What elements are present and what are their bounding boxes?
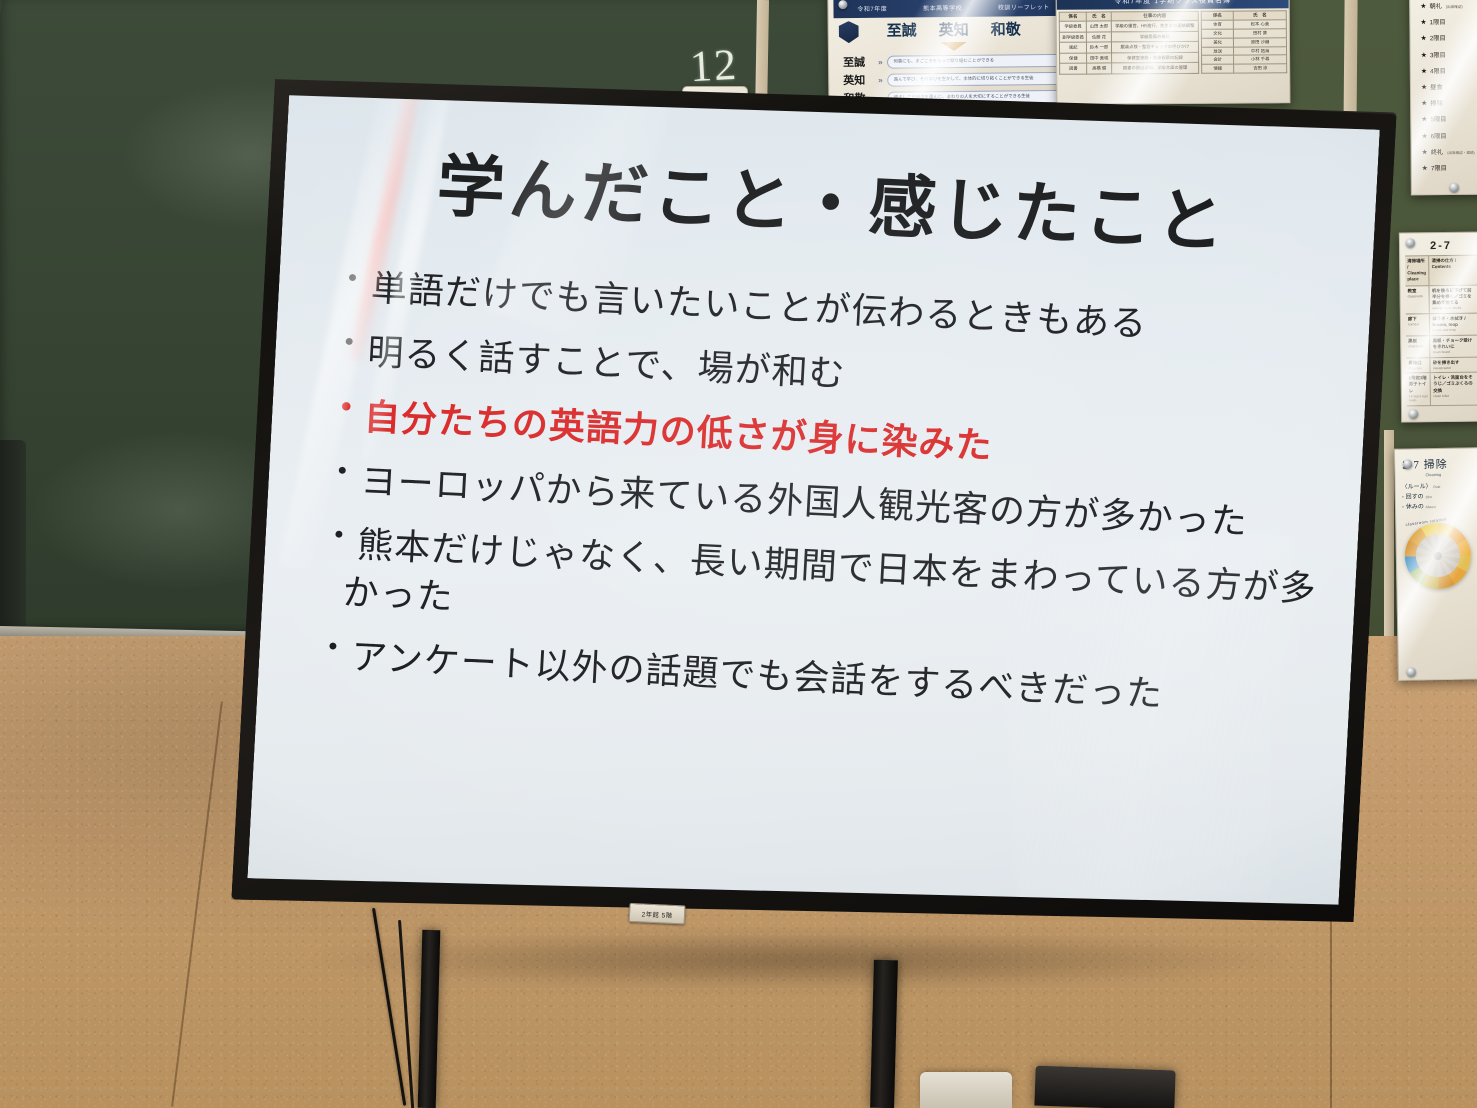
roster-th: 係名 xyxy=(1201,11,1233,20)
rule-1: 休みの xyxy=(1406,505,1424,511)
poster-daily-schedule: ★朝礼(出席確認) ★1限目 ★2限目 ★3限目 ★4限目 ★昼食 ★掃除 ★5… xyxy=(1409,0,1477,195)
motto-row-key-1: 英知 xyxy=(843,72,873,88)
poster-cleaning-rotation-wheel: 2-7 掃除 Cleaning 〈ルール〉 Rule ◦ 回すの 10m ◦ 休… xyxy=(1394,447,1477,680)
list-item: ★7限目 xyxy=(1422,163,1477,173)
slide-title: 学んだこと・感じたこと xyxy=(335,146,1331,267)
motto-row-desc-0: 何事にも、まごころをもって取り組むことができる xyxy=(887,53,1071,68)
star-icon: ★ xyxy=(1421,99,1427,107)
star-icon: ★ xyxy=(1420,35,1426,43)
rule-1-sub: Absent xyxy=(1425,505,1436,509)
tv-stand-base xyxy=(1034,1066,1175,1108)
chevron-down-icon xyxy=(941,42,967,51)
motto-header-right: 校訓リーフレット xyxy=(998,2,1050,12)
list-item: ★2限目 xyxy=(1420,33,1477,43)
star-icon: ★ xyxy=(1421,51,1427,59)
list-item: ★終礼(出席確認・連絡) xyxy=(1421,146,1477,156)
floor-object xyxy=(920,1072,1012,1108)
motto-row-key-0: 至誠 xyxy=(843,54,873,70)
motto-word-0: 至誠 xyxy=(887,19,917,40)
tv-stand-right-post xyxy=(870,960,898,1108)
star-icon: ★ xyxy=(1420,18,1426,26)
wheel-rules: 〈ルール〉 Rule ◦ 回すの 10m ◦ 休みの Absent xyxy=(1402,481,1477,513)
star-icon: ★ xyxy=(1421,67,1427,75)
star-icon: ★ xyxy=(1421,148,1427,156)
slide-bullet-list: 単語だけでも言いたいことが伝わるときもある 明るく話すことで、場が和む 自分たち… xyxy=(310,264,1324,724)
list-item: ★昼食 xyxy=(1421,82,1477,92)
duty-table: 清掃場所 / Cleaning place 清掃の仕方 / Contents 教… xyxy=(1405,255,1477,407)
table-row: 図書高橋 健図書の貸出返却、学級文庫の管理 xyxy=(1060,63,1199,75)
presentation-slide: 学んだこと・感じたこと 単語だけでも言いたいことが伝わるときもある 明るく話すこ… xyxy=(247,79,1379,928)
tv-display[interactable]: 学んだこと・感じたこと 単語だけでも言いたいことが伝わるときもある 明るく話すこ… xyxy=(231,61,1397,952)
roster-th: 氏 名 xyxy=(1233,11,1286,21)
rules-heading: 〈ルール〉 xyxy=(1402,484,1432,491)
rule-0-sub: 10m xyxy=(1425,495,1432,499)
star-icon: ★ xyxy=(1421,132,1427,140)
roster-th: 氏 名 xyxy=(1087,12,1111,21)
motto-header: 令和7年度 熊本高等学校 校訓リーフレット xyxy=(833,0,1073,18)
table-row: 昇降口shoe box 砂を掃き出すsweep sand xyxy=(1406,356,1477,373)
list-item: ★6限目 xyxy=(1421,130,1477,140)
star-icon: ★ xyxy=(1421,116,1427,124)
table-row: 1号館3階 男子トイレ1F boy's rest room トイレ・洗面台をそう… xyxy=(1407,372,1477,407)
classroom-photo: 12 月 令和7年度 熊本高等学校 校訓リーフレット 至誠 英知 和敬 至誠 »… xyxy=(0,0,1477,1108)
poster-class-roster: 令和7年度 1学期クラス役員名簿 係名 氏 名 仕事の内容 学級委員山田 太郎学… xyxy=(1056,0,1291,105)
schedule-list: ★朝礼(出席確認) ★1限目 ★2限目 ★3限目 ★4限目 ★昼食 ★掃除 ★5… xyxy=(1410,0,1477,172)
rule-0: 回すの xyxy=(1406,494,1424,500)
list-item: ★5限目 xyxy=(1421,114,1477,124)
table-row: 情報吉田 涼 xyxy=(1202,64,1287,73)
table-row: 黒板chalkboard 黒板・チョーク受けをきれいにclean board xyxy=(1406,334,1477,357)
table-row: 清掃場所 / Cleaning place 清掃の仕方 / Contents xyxy=(1405,255,1477,286)
motto-row: 英知 » 進んで学び、その学びを生かして、主体的に切り拓くことができる生徒 xyxy=(843,70,1071,88)
rules-heading-en: Rule xyxy=(1433,485,1440,489)
motto-row-desc-1: 進んで学び、その学びを生かして、主体的に切り拓くことができる生徒 xyxy=(888,71,1072,86)
chevron-right-icon: » xyxy=(878,75,883,84)
rotation-wheel-diagram xyxy=(1404,522,1471,589)
chalkboard-left-edge xyxy=(0,440,26,650)
star-icon: ★ xyxy=(1421,83,1427,91)
chevron-right-icon: » xyxy=(878,57,883,66)
roster-th: 係名 xyxy=(1059,12,1087,21)
roster-table-right: 係名 氏 名 体育松本 心美 文化田村 葵 美化原田 沙織 放送中村 拓海 会計… xyxy=(1201,10,1287,74)
list-item: ★掃除 xyxy=(1421,98,1477,108)
motto-word-2: 和敬 xyxy=(991,18,1021,39)
asset-label-sticker: 2年館 5階 xyxy=(629,903,686,925)
list-item: ★4限目 xyxy=(1421,65,1477,75)
roster-table-left: 係名 氏 名 仕事の内容 学級委員山田 太郎学級の運営、HR進行、先生との連絡調… xyxy=(1059,11,1200,75)
motto-header-left: 令和7年度 xyxy=(857,4,887,13)
motto-word-1: 英知 xyxy=(939,19,969,40)
star-icon: ★ xyxy=(1420,2,1426,10)
table-row: 教室classroom 机を後ろに下げて前半分を掃く／ゴミを集めて捨てるswee… xyxy=(1405,284,1477,313)
wheel-subtitle: Cleaning xyxy=(1425,471,1477,477)
motto-header-mid: 熊本高等学校 xyxy=(923,3,962,12)
list-item: ★3限目 xyxy=(1421,49,1477,59)
slide-bullet-5: 熊本だけじゃなく、長い期間で日本をまわっている方が多 かった xyxy=(328,522,1311,660)
list-item: ★1限目 xyxy=(1420,17,1477,27)
poster-cleaning-duty-chart: 2-7 清掃場所 / Cleaning place 清掃の仕方 / Conten… xyxy=(1399,231,1477,422)
list-item: ★朝礼(出席確認) xyxy=(1420,1,1477,11)
table-row: 廊下corridor ほうき・水拭き / broom, mopbroom and… xyxy=(1406,312,1477,335)
tv-screen[interactable]: 学んだこと・感じたこと 単語だけでも言いたいことが伝わるときもある 明るく話すこ… xyxy=(247,79,1379,928)
star-icon: ★ xyxy=(1422,164,1428,172)
wheel-title: 2-7 掃除 xyxy=(1402,455,1477,472)
motto-words: 至誠 英知 和敬 xyxy=(829,18,1079,42)
motto-row: 至誠 » 何事にも、まごころをもって取り組むことができる xyxy=(843,52,1071,70)
